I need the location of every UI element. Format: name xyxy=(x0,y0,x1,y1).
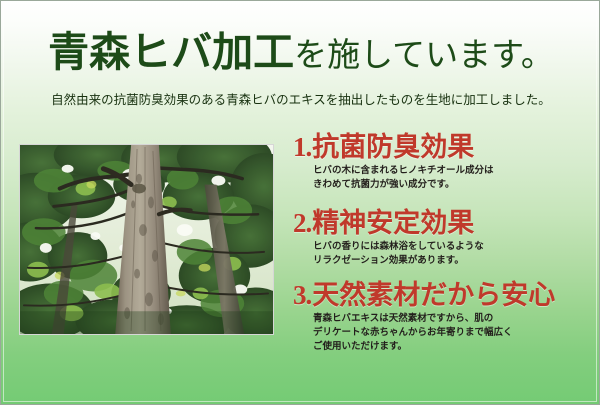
benefit-2-title: 精神安定効果 xyxy=(312,208,474,238)
benefit-3-body: 青森ヒバエキスは天然素材ですから、肌の デリケートな赤ちゃんからお年寄りまで幅広… xyxy=(313,312,555,354)
benefit-1-body: ヒバの木に含まれるヒノキチオール成分は きわめて抗菌力が強い成分です。 xyxy=(313,164,494,192)
benefit-2-body-line-1: ヒバの香りには森林浴をしているような xyxy=(313,240,484,254)
benefit-item-1: 1.抗菌防臭効果 ヒバの木に含まれるヒノキチオール成分は きわめて抗菌力が強い成… xyxy=(293,133,494,192)
benefit-1-body-line-1: ヒバの木に含まれるヒノキチオール成分は xyxy=(313,164,494,178)
benefit-1-body-line-2: きわめて抗菌力が強い成分です。 xyxy=(313,178,494,192)
benefit-3-title: 天然素材だから安心 xyxy=(312,280,555,310)
benefit-1-heading: 1.抗菌防臭効果 xyxy=(293,133,494,162)
benefit-item-2: 2.精神安定効果 ヒバの香りには森林浴をしているような リラクゼーション効果があ… xyxy=(293,209,484,268)
benefit-item-3: 3.天然素材だから安心 青森ヒバエキスは天然素材ですから、肌の デリケートな赤ち… xyxy=(293,281,555,354)
poster-header: 青森ヒバ加工を施しています。 xyxy=(1,1,600,73)
benefit-1-title: 抗菌防臭効果 xyxy=(312,132,474,162)
benefit-3-heading: 3.天然素材だから安心 xyxy=(293,281,555,310)
benefit-1-number: 1. xyxy=(293,132,311,162)
benefit-2-body: ヒバの香りには森林浴をしているような リラクゼーション効果があります。 xyxy=(313,240,484,268)
hiba-forest-photo xyxy=(19,144,274,335)
title-main-text: 青森ヒバ加工 xyxy=(48,29,294,75)
benefit-2-heading: 2.精神安定効果 xyxy=(293,209,484,238)
benefit-3-number: 3. xyxy=(293,280,311,310)
promo-poster: 青森ヒバ加工を施しています。 自然由来の抗菌防臭効果のある青森ヒバのエキスを抽出… xyxy=(0,0,600,405)
benefit-3-body-line-1: 青森ヒバエキスは天然素材ですから、肌の xyxy=(313,312,555,326)
benefit-3-body-line-2: デリケートな赤ちゃんからお年寄りまで幅広く xyxy=(313,326,555,340)
benefit-2-number: 2. xyxy=(293,208,311,238)
title-tail-text: を施しています。 xyxy=(294,38,554,74)
benefit-3-body-line-3: ご使用いただけます。 xyxy=(313,340,555,354)
page-title: 青森ヒバ加工を施しています。 xyxy=(1,1,600,73)
subtitle-text: 自然由来の抗菌防臭効果のある青森ヒバのエキスを抽出したものを生地に加工しました。 xyxy=(1,89,600,108)
benefit-2-body-line-2: リラクゼーション効果があります。 xyxy=(313,254,484,268)
forest-photo-illustration xyxy=(20,145,273,334)
